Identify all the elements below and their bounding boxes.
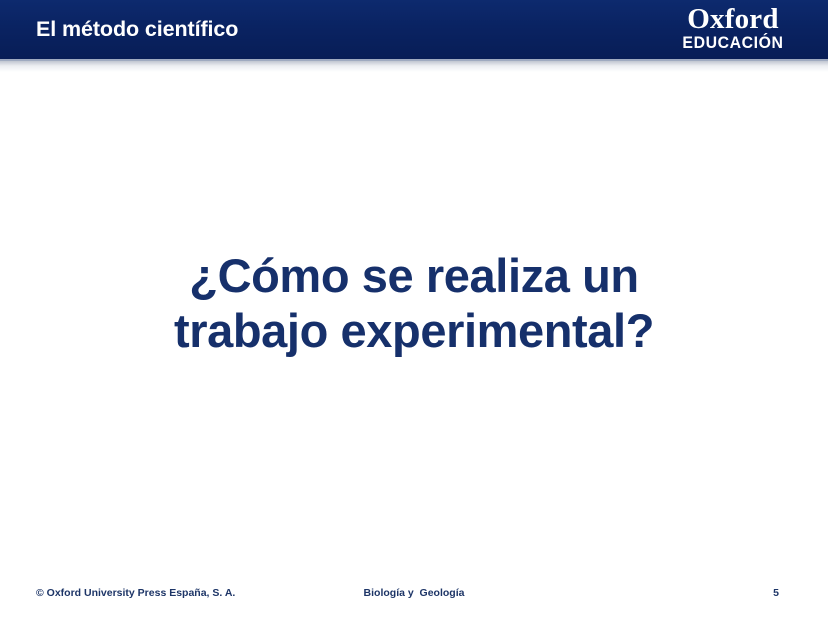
footer-page-number: 5 bbox=[773, 583, 779, 603]
header-drop-shadow bbox=[0, 61, 828, 72]
slide-canvas: El método científico Oxford EDUCACIÓN ¿C… bbox=[0, 0, 828, 621]
page-title: El método científico bbox=[36, 0, 238, 59]
slide-question-heading: ¿Cómo se realiza un trabajo experimental… bbox=[0, 248, 828, 359]
oxford-wordmark: Oxford bbox=[671, 5, 795, 34]
header-band: El método científico Oxford EDUCACIÓN bbox=[0, 0, 828, 59]
slide-question-line-2: trabajo experimental? bbox=[0, 303, 828, 358]
oxford-educacion-logo: Oxford EDUCACIÓN bbox=[671, 5, 795, 52]
educacion-wordmark: EDUCACIÓN bbox=[673, 35, 792, 52]
slide-question-line-1: ¿Cómo se realiza un bbox=[0, 248, 828, 303]
slide-footer: © Oxford University Press España, S. A. … bbox=[0, 583, 828, 603]
